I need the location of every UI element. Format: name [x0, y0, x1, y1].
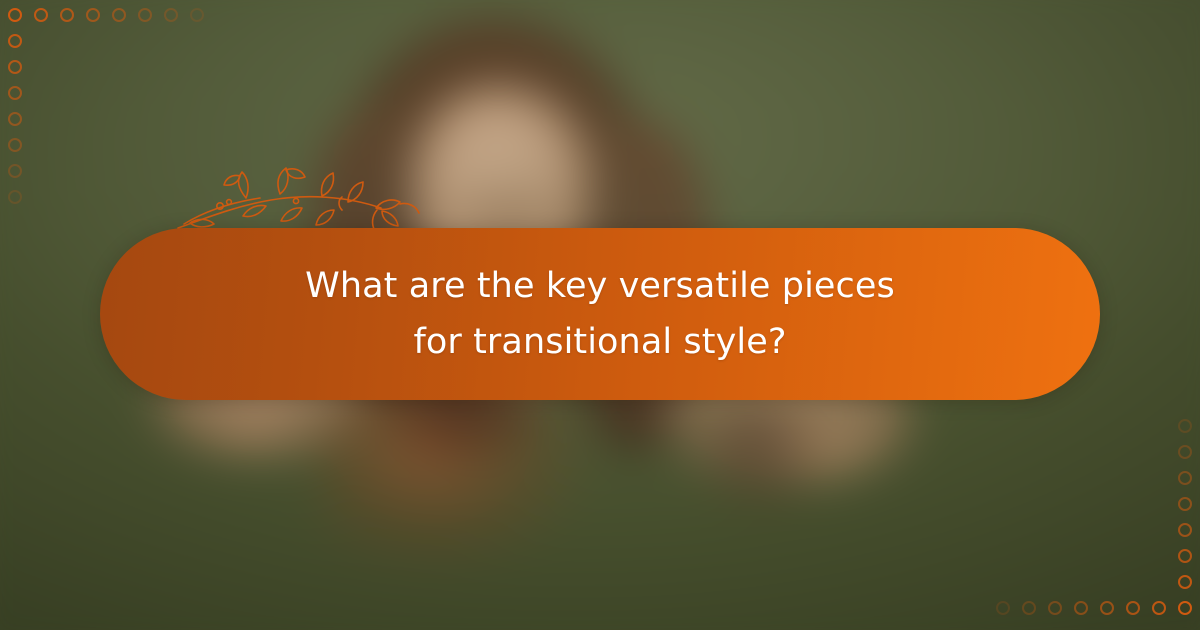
decorative-circle [1152, 601, 1166, 615]
question-text: What are the key versatile pieces for tr… [280, 258, 920, 370]
decorative-circle [8, 34, 22, 48]
question-pill: What are the key versatile pieces for tr… [100, 228, 1100, 400]
decorative-circle [8, 60, 22, 74]
decorative-circle [1178, 523, 1192, 537]
decorative-circle [1178, 419, 1192, 433]
decorative-circle [164, 8, 178, 22]
decorative-circle [8, 8, 22, 22]
decorative-circle [1126, 601, 1140, 615]
decorative-circle [8, 138, 22, 152]
decorative-circle [60, 8, 74, 22]
decorative-circle [86, 8, 100, 22]
decorative-circle [1048, 601, 1062, 615]
decorative-circle [1178, 549, 1192, 563]
decorative-circle [8, 112, 22, 126]
decorative-circle [1178, 497, 1192, 511]
decorative-circle [8, 190, 22, 204]
decorative-circle [1178, 575, 1192, 589]
decorative-circle [8, 86, 22, 100]
decorative-circle [1074, 601, 1088, 615]
social-card: What are the key versatile pieces for tr… [0, 0, 1200, 630]
decorative-circle [1022, 601, 1036, 615]
decorative-circle [996, 601, 1010, 615]
decorative-circle [112, 8, 126, 22]
decorative-circle [34, 8, 48, 22]
decorative-circle [1178, 601, 1192, 615]
decorative-circle [1100, 601, 1114, 615]
decorative-circle [138, 8, 152, 22]
decorative-circle [8, 164, 22, 178]
decorative-circle [1178, 471, 1192, 485]
decorative-circle [190, 8, 204, 22]
decorative-circle [1178, 445, 1192, 459]
